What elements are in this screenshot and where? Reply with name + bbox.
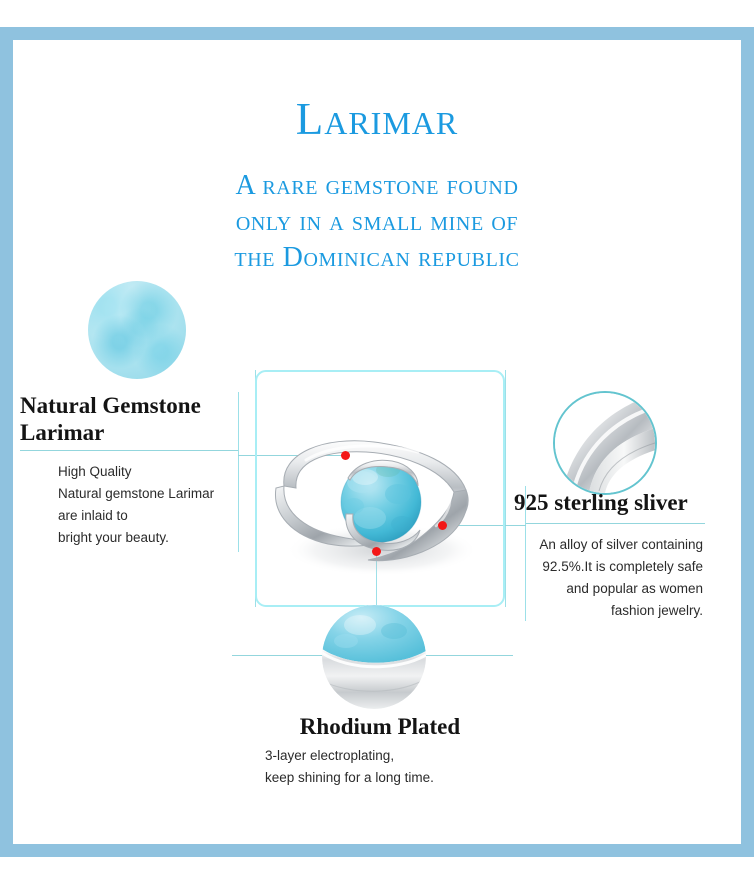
detail-image-rhodium-plating xyxy=(322,605,426,709)
natural-body-line-4: bright your beauty. xyxy=(58,527,258,549)
callout-body-rhodium-plated: 3-layer electroplating, keep shining for… xyxy=(265,745,525,789)
callout-body-natural-gemstone: High Quality Natural gemstone Larimar ar… xyxy=(58,461,258,549)
rhodium-body-line-2: keep shining for a long time. xyxy=(265,767,525,789)
infographic-canvas: Larimar A rare gemstone found only in a … xyxy=(0,0,754,891)
rhodium-body-line-1: 3-layer electroplating, xyxy=(265,745,525,767)
callout-heading-rhodium-plated: Rhodium Plated xyxy=(235,713,525,740)
rhodium-art xyxy=(322,605,426,709)
rule-natural-heading-underline xyxy=(20,450,238,451)
detail-image-silver-band xyxy=(553,391,657,495)
marker-setting-bottom xyxy=(372,547,381,556)
natural-body-line-1: High Quality xyxy=(58,461,258,483)
detail-image-larimar-cabochon xyxy=(88,281,186,379)
callout-heading-sterling-silver: 925 sterling sliver xyxy=(514,489,749,516)
natural-body-line-2: Natural gemstone Larimar xyxy=(58,483,258,505)
product-image-larimar-ring xyxy=(250,398,510,618)
marker-band-right xyxy=(438,521,447,530)
subtitle-line-3: the Dominican republic xyxy=(107,240,647,276)
page-subtitle: A rare gemstone found only in a small mi… xyxy=(107,168,647,276)
callout-heading-natural-gemstone: Natural Gemstone Larimar xyxy=(20,392,250,446)
subtitle-line-1: A rare gemstone found xyxy=(107,168,647,204)
silver-body-line-4: fashion jewelry. xyxy=(505,600,703,622)
natural-body-line-3: are inlaid to xyxy=(58,505,258,527)
marker-band-top xyxy=(341,451,350,460)
callout-body-sterling-silver: An alloy of silver containing 92.5%.It i… xyxy=(505,534,703,622)
rule-silver-heading-underline xyxy=(525,523,705,524)
subtitle-line-2: only in a small mine of xyxy=(107,204,647,240)
silver-band-art xyxy=(555,393,655,493)
page-title: Larimar xyxy=(0,93,754,145)
silver-body-line-3: and popular as women xyxy=(505,578,703,600)
silver-body-line-2: 92.5%.It is completely safe xyxy=(505,556,703,578)
silver-body-line-1: An alloy of silver containing xyxy=(505,534,703,556)
